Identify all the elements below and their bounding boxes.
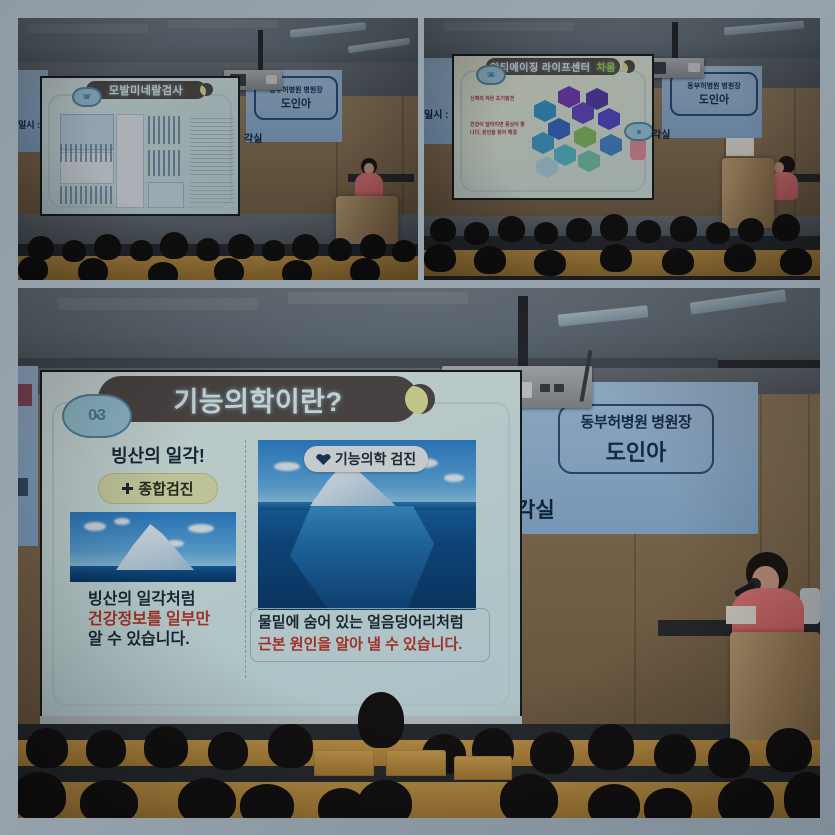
screen-surface: 모발미네랄검사 07 [42,78,238,214]
slide-title-bar: 모발미네랄검사 [86,81,206,99]
caption-line-accent: 건강정보를 일부만 [88,610,210,630]
ceiling-tile [288,292,468,304]
photo-top-left: 일시 : 동부허병원 병원장 도인아 각실 모발미네랄검사 07 [18,18,418,280]
photo-top-right: 일시 : 동부허병원 병원장 도인아 각실 안티에이징 라이프센터 차움 05 [424,18,820,280]
iceberg-photo-tip [70,512,236,582]
slide-badge-number: 05 [487,72,495,79]
screen-bottom-edge [40,716,522,724]
banner-line2: 도인아 [606,435,667,467]
ceiling-tile [58,298,258,310]
ceiling-tile [28,24,148,33]
projector-port [554,384,564,392]
projector-pole [672,22,678,60]
podium-sign [726,138,754,156]
slide-title: 기능의학이란? [173,380,342,419]
report-block [148,182,184,208]
banner-side-text-left: 일시 : [18,118,40,131]
banner-left-glyph [18,384,32,406]
screen-surface: 안티에이징 라이프센터 차움 05 신체의 작은 조기발견 건강이 달라지면 증… [454,56,652,198]
report-text [190,182,234,206]
report-chart [148,150,182,176]
banner-line2: 도인아 [281,95,311,111]
seat-back [454,756,512,780]
crescent-moon-icon [200,83,213,96]
cloud [188,524,214,533]
crescent-moon-icon [405,384,435,414]
seat-back [386,750,446,776]
projector-lens [688,63,700,72]
slide-bullet-2: 건강이 달라지면 증상이 좋나다, 원인을 찾아 해결 [470,122,526,137]
banner-side-text-right: 각실 [244,130,262,145]
banner-line1: 동부허병원 병원장 [687,81,740,91]
banner-box: 동부허병원 병원장 도인아 [670,72,758,116]
cloud [84,522,106,531]
ceiling-tile [168,20,278,28]
report-text [190,118,234,178]
right-caption-box [250,608,490,662]
ceiling-tile [444,22,574,31]
projector-lens [266,75,277,84]
slide-badge-number: 03 [88,407,106,425]
wood-seam [402,96,404,226]
projection-screen: 안티에이징 라이프센터 차움 05 신체의 작은 조기발견 건강이 달라지면 증… [452,54,654,200]
banner-side-text-right: 각실 [652,126,670,141]
crescent-moon-icon [622,60,635,73]
plus-cross-icon [122,483,133,494]
functional-medicine-label: 기능의학 검진 [335,449,416,469]
report-chart [148,116,182,144]
cloud [444,474,464,482]
slide-left-heading: 빙산의 일각! [88,442,228,468]
banner-line1: 동부허병원 병원장 [581,411,692,432]
slide-badge-number: 07 [83,94,91,101]
report-chart [60,144,112,162]
cloud-badge-icon: 03 [62,394,132,438]
slide-title-bar: 기능의학이란? [98,376,418,422]
banner-side-text-left: 일시 : [424,106,449,121]
banner-left-glyph [18,478,28,496]
projector-port [540,384,550,392]
podium [730,632,820,742]
report-block [116,114,144,208]
caption-line: 빙산의 일각처럼 [88,590,210,610]
report-chart [60,186,112,204]
caption-line: 알 수 있습니다. [88,630,210,650]
slide-left-caption: 빙산의 일각처럼 건강정보를 일부만 알 수 있습니다. [88,590,210,650]
banner-line2: 도인아 [699,91,729,107]
projection-screen: 기능의학이란? 03 빙산의 일각! 종합검진 [40,370,522,718]
slide-bullet-1: 신체의 작은 조기발견 [470,96,524,104]
wall-banner-left [424,58,454,144]
seat-back [314,750,374,776]
slide-title-bar: 안티에이징 라이프센터 차움 [486,58,620,75]
slide-mascot [630,138,646,160]
screen-surface: 기능의학이란? 03 빙산의 일각! 종합검진 [42,372,520,716]
cloud [274,462,300,471]
photo-bottom-main: 동부허병원 병원장 도인아 각실 기능의학이란? 03 [18,288,820,818]
functional-medicine-pill: 기능의학 검진 [304,446,428,472]
podium-sign [726,606,756,624]
projection-screen: 모발미네랄검사 07 [40,76,240,216]
slide-title: 모발미네랄검사 [109,82,183,98]
slide-title-accent: 차움 [596,59,615,74]
cloud-badge-icon: 07 [72,87,102,107]
heart-pulse-icon [316,453,331,465]
banner-box: 동부허병원 병원장 도인아 [558,404,714,474]
collage-image: 일시 : 동부허병원 병원장 도인아 각실 모발미네랄검사 07 [0,0,835,835]
cloud [114,518,130,525]
seat-row-near [18,782,820,818]
slide-divider [245,440,246,678]
projector-pole [258,30,263,72]
comprehensive-checkup-label: 종합검진 [138,478,193,499]
iceberg-photo-full: 기능의학 검진 [258,440,476,610]
cloud-badge-icon: 05 [476,65,506,85]
screen-rail [18,358,718,368]
wood-seam [794,88,796,226]
honeycomb-diagram [528,86,624,178]
comprehensive-checkup-pill: 종합검진 [98,473,218,504]
cloud-badge-icon [624,122,652,141]
projector-pole [518,296,528,370]
